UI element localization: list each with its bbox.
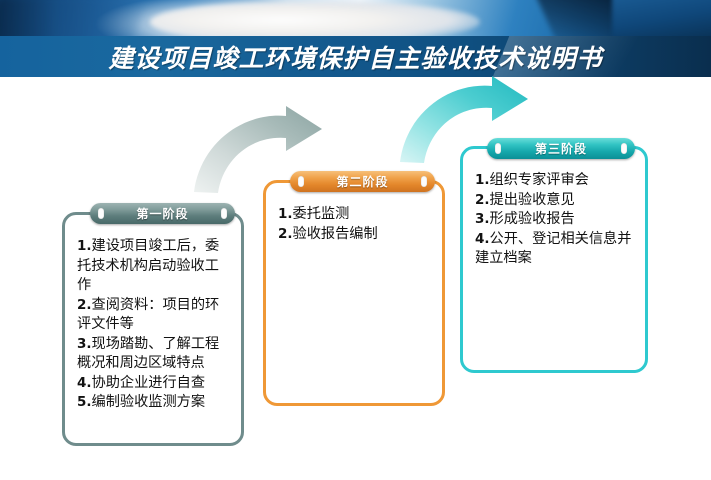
pill-hole-right-icon (621, 143, 627, 154)
pill-hole-left-icon (98, 208, 104, 219)
title-banner: 建设项目竣工环境保护自主验收技术说明书 (0, 36, 711, 77)
list-item: 5.编制验收监测方案 (77, 393, 231, 413)
list-item-number: 4. (475, 231, 490, 247)
list-item-number: 2. (475, 192, 490, 208)
list-item-text: 验收报告编制 (293, 226, 378, 242)
list-item: 1.委托监测 (278, 205, 432, 225)
stage-1-label: 第一阶段 (136, 205, 188, 222)
pill-hole-right-icon (421, 176, 427, 187)
list-item: 4.公开、登记相关信息并建立档案 (475, 230, 635, 269)
list-item-number: 2. (278, 226, 293, 242)
pill-hole-left-icon (495, 143, 501, 154)
stage-1-label-pill[interactable]: 第一阶段 (90, 203, 235, 224)
list-item-number: 2. (77, 297, 92, 313)
list-item-number: 3. (475, 211, 490, 227)
list-item: 2.查阅资料：项目的环评文件等 (77, 296, 231, 335)
page-title: 建设项目竣工环境保护自主验收技术说明书 (0, 36, 711, 77)
header-photo (0, 0, 711, 37)
list-item-text: 现场踏勘、了解工程概况和周边区域特点 (77, 336, 219, 372)
stage-box-2[interactable]: 1.委托监测 2.验收报告编制 (263, 180, 445, 406)
slide-canvas: 建设项目竣工环境保护自主验收技术说明书 1.建设项目竣工后 (0, 0, 711, 480)
list-item-number: 1. (475, 172, 490, 188)
list-item-number: 3. (77, 336, 92, 352)
pill-hole-left-icon (298, 176, 304, 187)
stage-3-content: 1.组织专家评审会 2.提出验收意见 3.形成验收报告 4.公开、登记相关信息并… (463, 149, 645, 277)
photo-highlight (150, 2, 480, 37)
stage-3-label-pill[interactable]: 第三阶段 (487, 138, 635, 159)
list-item-text: 建设项目竣工后，委托技术机构启动验收工作 (77, 238, 219, 293)
list-item: 2.提出验收意见 (475, 191, 635, 211)
list-item-text: 编制验收监测方案 (92, 394, 206, 410)
list-item: 3.形成验收报告 (475, 210, 635, 230)
stage-box-3[interactable]: 1.组织专家评审会 2.提出验收意见 3.形成验收报告 4.公开、登记相关信息并… (460, 146, 648, 373)
pill-hole-right-icon (221, 208, 227, 219)
list-item: 3.现场踏勘、了解工程概况和周边区域特点 (77, 335, 231, 374)
list-item-number: 5. (77, 394, 92, 410)
photo-streak-left (0, 0, 148, 37)
stage-1-content: 1.建设项目竣工后，委托技术机构启动验收工作 2.查阅资料：项目的环评文件等 3… (65, 215, 241, 421)
list-item-number: 4. (77, 375, 92, 391)
stage-2-content: 1.委托监测 2.验收报告编制 (266, 183, 442, 252)
stage-2-label: 第二阶段 (336, 173, 388, 190)
list-item: 1.建设项目竣工后，委托技术机构启动验收工作 (77, 237, 231, 296)
list-item-text: 公开、登记相关信息并建立档案 (475, 231, 631, 267)
list-item-number: 1. (77, 238, 92, 254)
photo-corner-right (612, 0, 711, 37)
stage-2-label-pill[interactable]: 第二阶段 (290, 171, 435, 192)
list-item: 2.验收报告编制 (278, 225, 432, 245)
list-item-text: 形成验收报告 (490, 211, 575, 227)
list-item: 4.协助企业进行自查 (77, 374, 231, 394)
stage-box-1[interactable]: 1.建设项目竣工后，委托技术机构启动验收工作 2.查阅资料：项目的环评文件等 3… (62, 212, 244, 446)
list-item-text: 委托监测 (293, 206, 350, 222)
list-item-text: 协助企业进行自查 (92, 375, 206, 391)
list-item: 1.组织专家评审会 (475, 171, 635, 191)
list-item-text: 组织专家评审会 (490, 172, 589, 188)
list-item-text: 查阅资料：项目的环评文件等 (77, 297, 219, 333)
list-item-number: 1. (278, 206, 293, 222)
stage-3-label: 第三阶段 (535, 140, 587, 157)
list-item-text: 提出验收意见 (490, 192, 575, 208)
